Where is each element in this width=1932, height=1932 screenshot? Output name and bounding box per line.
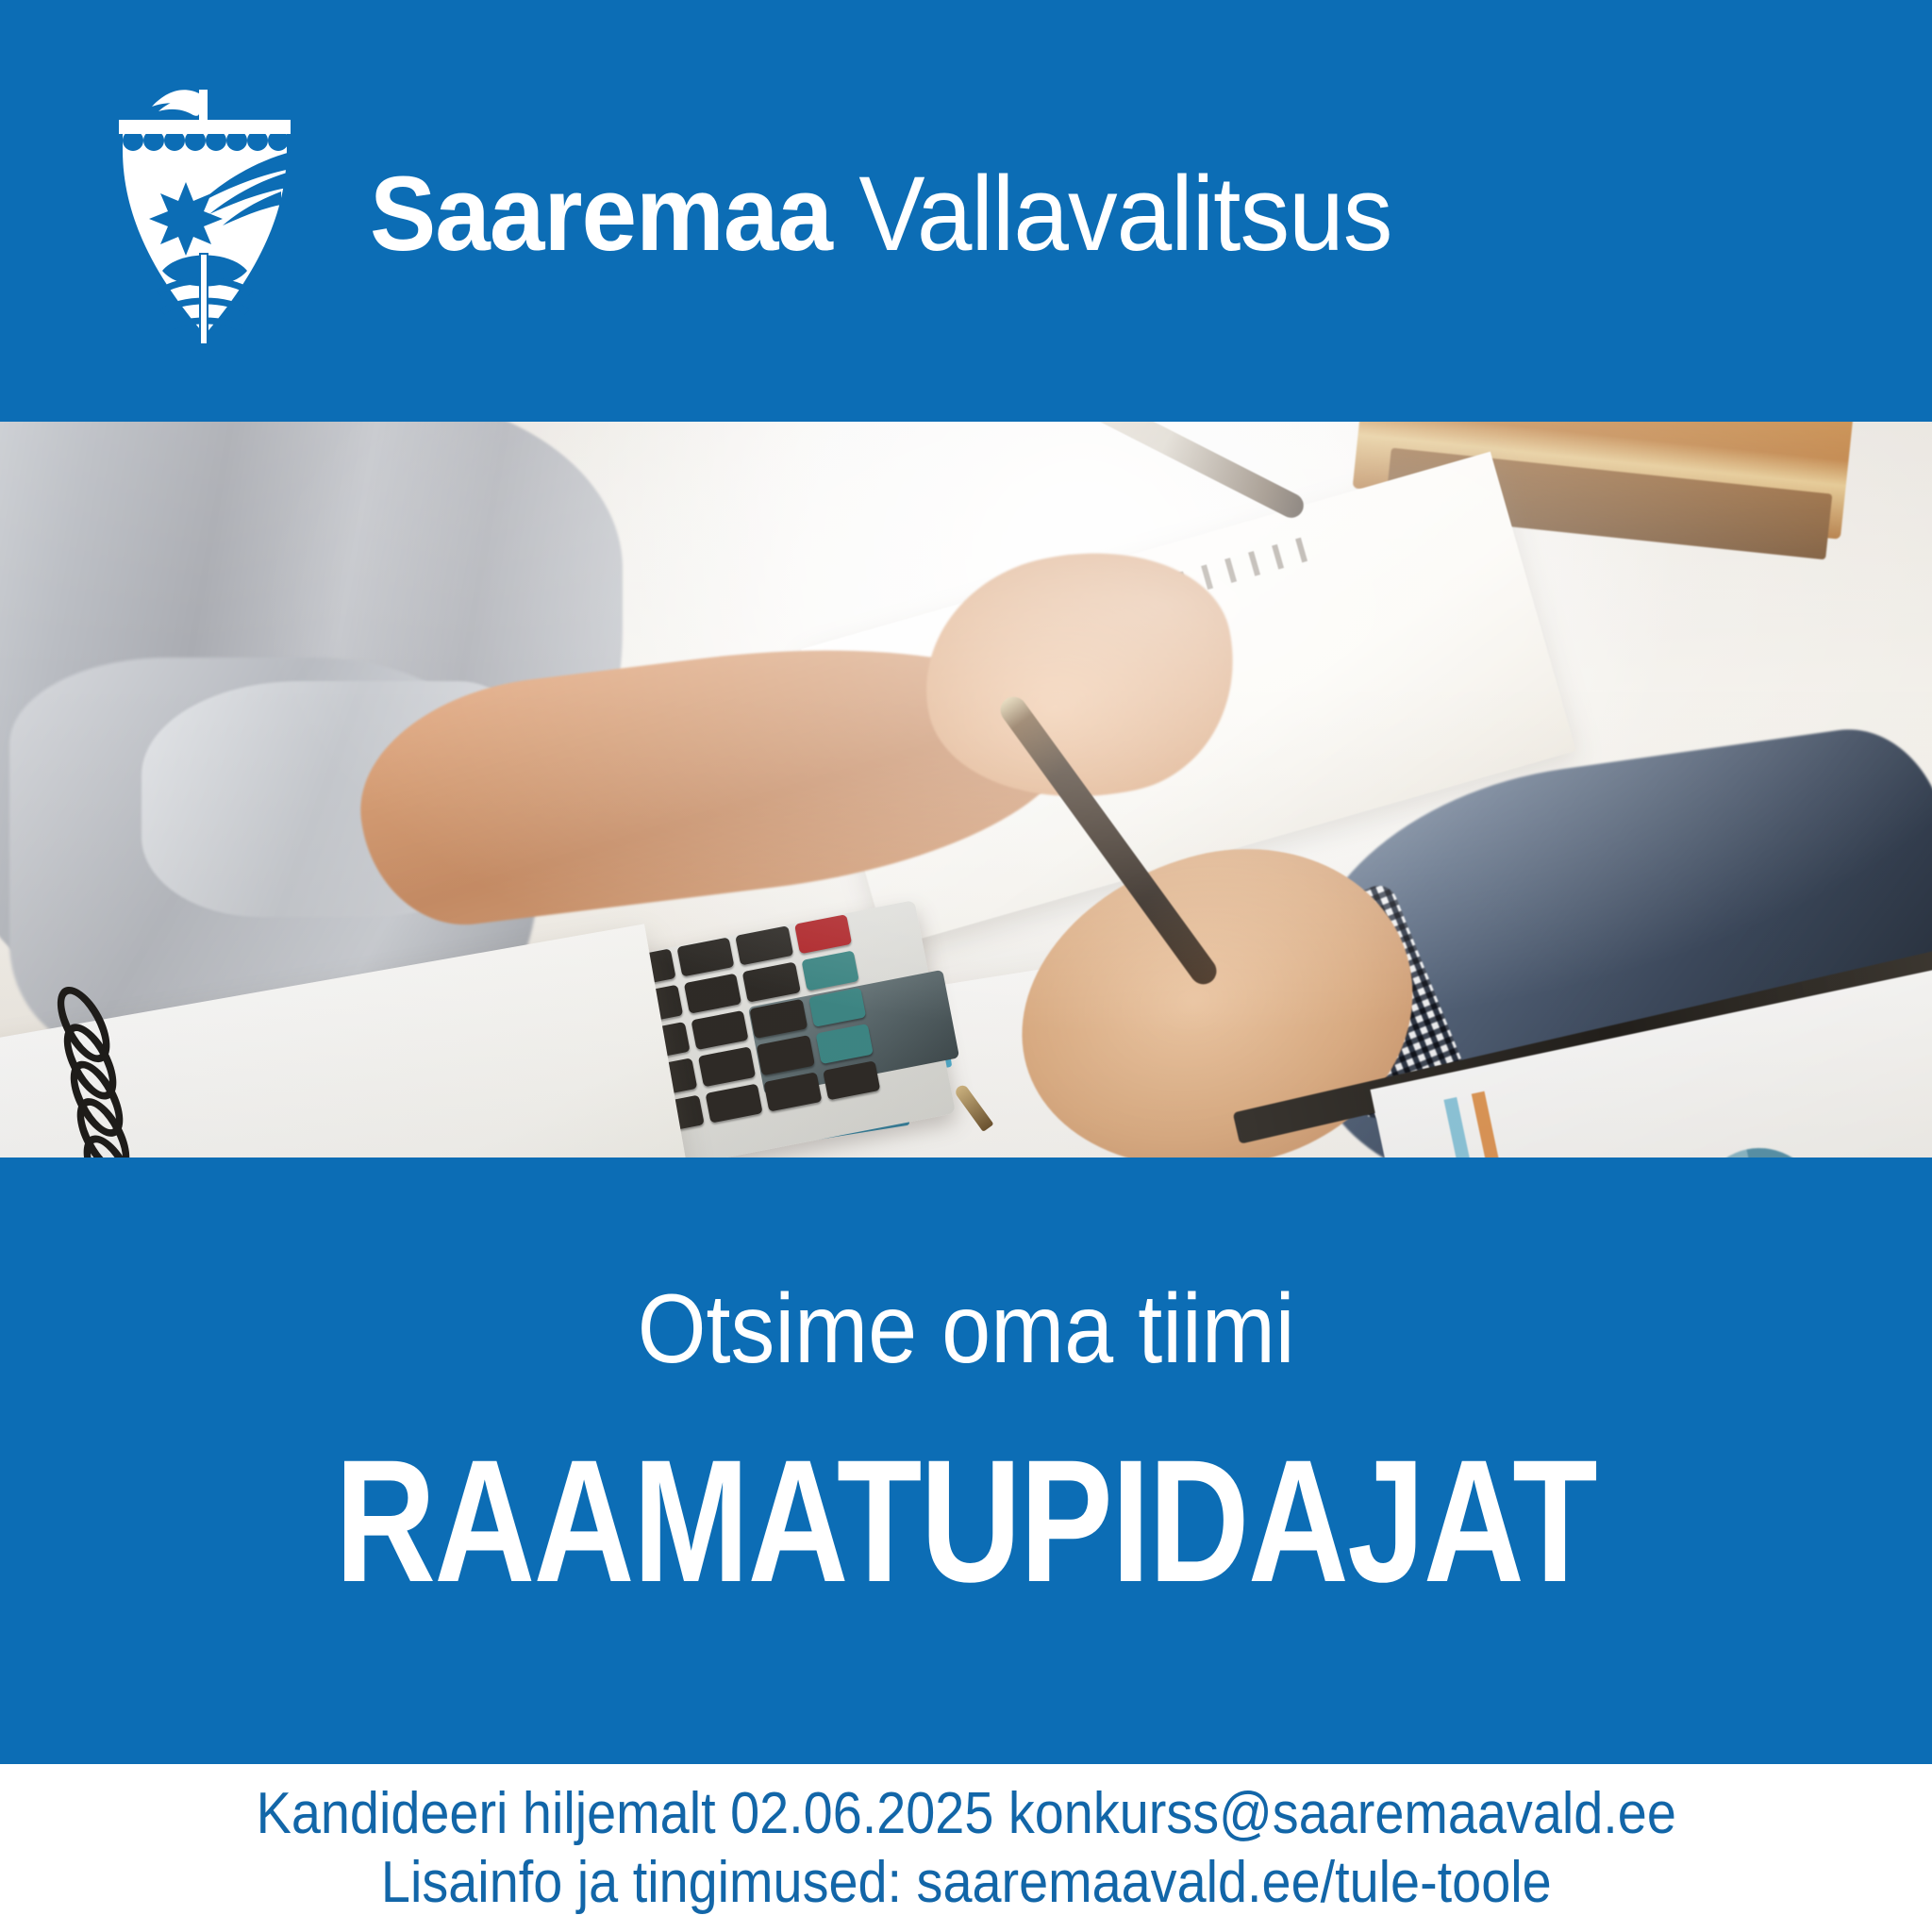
- saaremaa-coat-of-arms-icon: [106, 82, 304, 346]
- header-bar: Saaremaa Vallavalitsus: [0, 0, 1932, 422]
- kicker-text: Otsime oma tiimi: [638, 1280, 1295, 1378]
- brand-name-bold: Saaremaa: [370, 155, 832, 273]
- message-band: Otsime oma tiimi RAAMATUPIDAJAT: [0, 1158, 1932, 1764]
- footer-deadline-and-email: Kandideeri hiljemalt 02.06.2025 konkurss…: [256, 1779, 1675, 1848]
- footer-contact: Kandideeri hiljemalt 02.06.2025 konkurss…: [0, 1764, 1932, 1932]
- job-advert-poster: Saaremaa Vallavalitsus: [0, 0, 1932, 1932]
- headline-job-title: RAAMATUPIDAJAT: [336, 1435, 1597, 1609]
- hero-photo: [0, 422, 1932, 1158]
- brand-title: Saaremaa Vallavalitsus: [370, 161, 1391, 267]
- footer-more-info-url: Lisainfo ja tingimused: saaremaavald.ee/…: [381, 1848, 1552, 1917]
- brand-name-light: Vallavalitsus: [858, 155, 1391, 273]
